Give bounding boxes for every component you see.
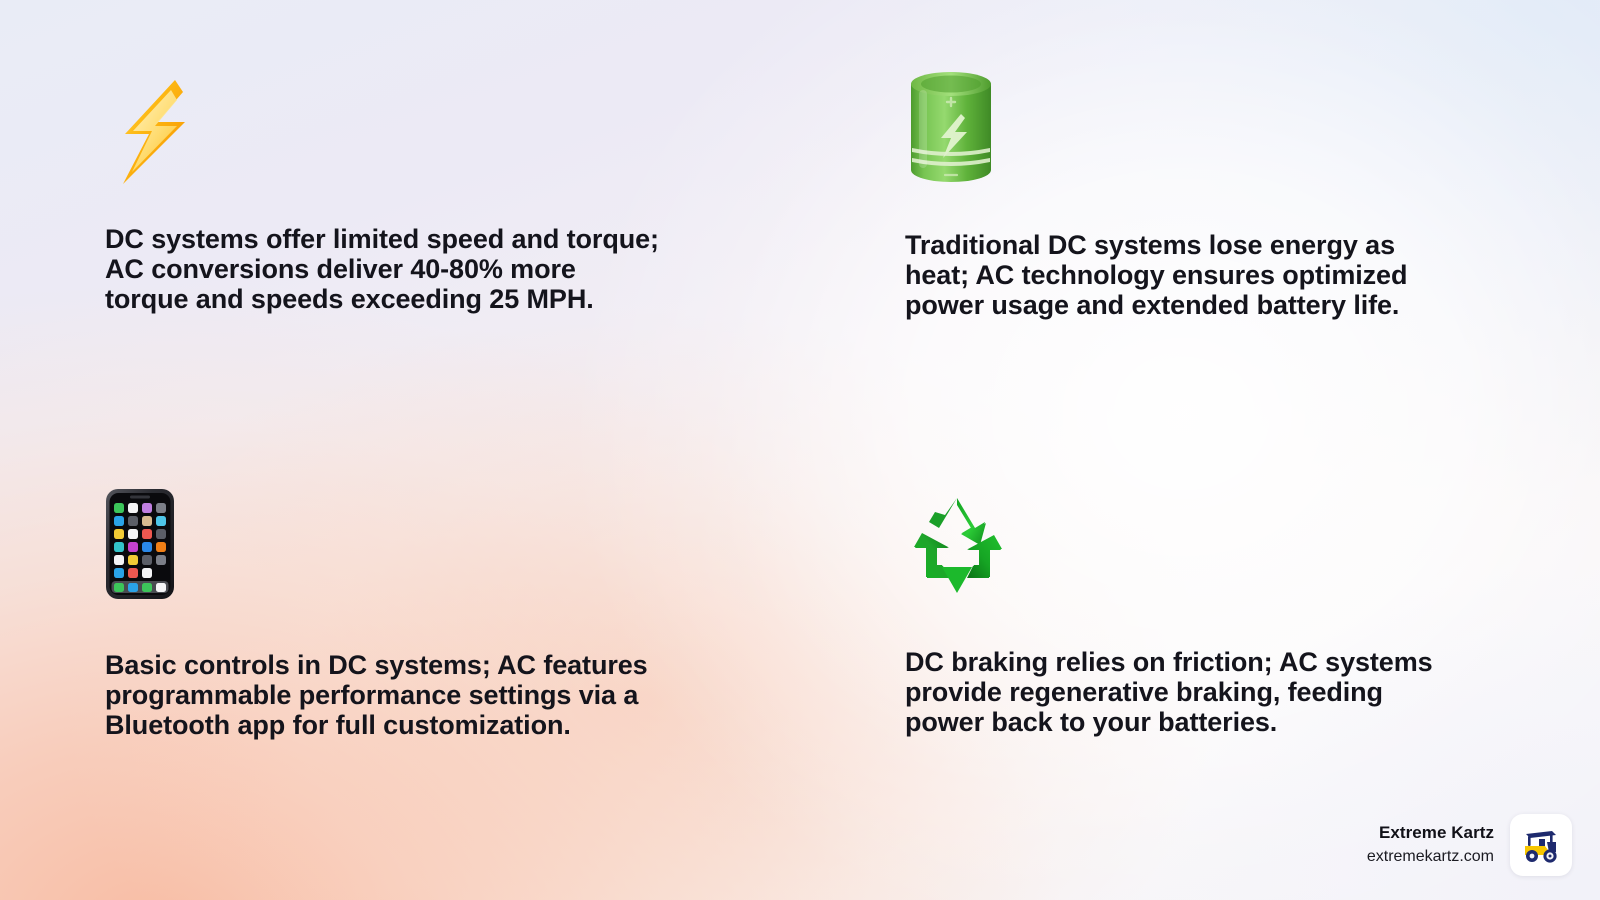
feature-description: DC braking relies on friction; AC system…	[905, 647, 1460, 738]
feature-cell-regenerative-braking: DC braking relies on friction; AC system…	[905, 492, 1465, 738]
feature-cell-speed-torque: DC systems offer limited speed and torqu…	[105, 78, 665, 315]
brand-url: extremekartz.com	[1367, 847, 1494, 867]
brand-footer: Extreme Kartz extremekartz.com	[1367, 814, 1572, 876]
feature-description: Basic controls in DC systems; AC feature…	[105, 650, 660, 741]
golf-kart-logo-icon	[1519, 825, 1563, 865]
brand-text-block: Extreme Kartz extremekartz.com	[1367, 822, 1494, 867]
feature-grid: DC systems offer limited speed and torqu…	[0, 0, 1600, 900]
high-voltage-bolt-icon	[105, 78, 665, 186]
feature-description: Traditional DC systems lose energy as he…	[905, 230, 1460, 321]
feature-description: DC systems offer limited speed and torqu…	[105, 224, 660, 315]
brand-logo-badge	[1510, 814, 1572, 876]
infographic-canvas: DC systems offer limited speed and torqu…	[0, 0, 1600, 900]
brand-name: Extreme Kartz	[1367, 822, 1494, 844]
recycle-icon	[905, 492, 1465, 607]
feature-cell-energy-efficiency: Traditional DC systems lose energy as he…	[905, 62, 1465, 321]
mobile-phone-icon	[105, 488, 665, 608]
feature-cell-app-controls: Basic controls in DC systems; AC feature…	[105, 488, 665, 741]
battery-icon	[905, 62, 1465, 192]
